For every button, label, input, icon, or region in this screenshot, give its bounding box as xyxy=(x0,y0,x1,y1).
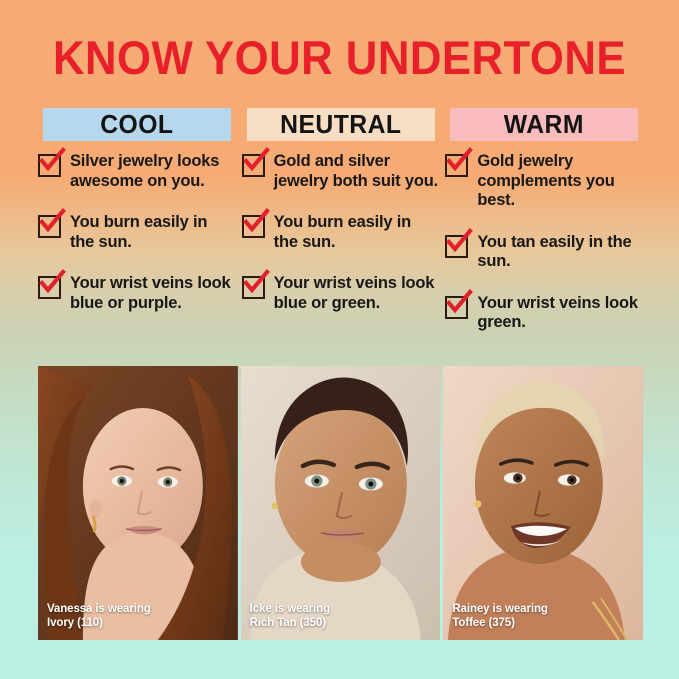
checklist-item[interactable]: Your wrist veins look blue or green. xyxy=(242,274,440,313)
checklist-column-neutral: Gold and silver jewelry both suit you. Y… xyxy=(242,152,440,333)
checklist-item-label: Silver jewelry looks awesome on you. xyxy=(70,152,236,191)
checklist-item[interactable]: You tan easily in the sun. xyxy=(445,233,643,272)
photo-caption-line2: Rich Tan (350) xyxy=(250,617,330,631)
checkbox-checked-icon[interactable] xyxy=(38,215,61,238)
model-photo-strip: Vanessa is wearing Ivory (110) xyxy=(38,366,643,640)
checklist-item-label: You burn easily in the sun. xyxy=(70,213,236,252)
model-photo-vanessa: Vanessa is wearing Ivory (110) xyxy=(38,366,238,640)
photo-caption-line2: Toffee (375) xyxy=(452,617,547,631)
photo-caption: Rainey is wearing Toffee (375) xyxy=(452,603,547,630)
checkbox-checked-icon[interactable] xyxy=(242,215,265,238)
checklist-item-label: Your wrist veins look blue or green. xyxy=(274,274,440,313)
checklist-item-label: Your wrist veins look blue or purple. xyxy=(70,274,236,313)
photo-caption-line1: Icke is wearing xyxy=(250,603,330,617)
checklist-item-label: You tan easily in the sun. xyxy=(477,233,643,272)
checklist-item-label: Gold jewelry complements you best. xyxy=(477,152,643,211)
checklist-item-label: Your wrist veins look green. xyxy=(477,294,643,333)
page-title: KNOW YOUR UNDERTONE xyxy=(24,33,655,83)
portrait-illustration-icke xyxy=(241,366,441,640)
checkbox-checked-icon[interactable] xyxy=(242,154,265,177)
checklist-item[interactable]: Gold and silver jewelry both suit you. xyxy=(242,152,440,191)
checklist-item[interactable]: Your wrist veins look green. xyxy=(445,294,643,333)
photo-caption-line1: Vanessa is wearing xyxy=(47,603,151,617)
portrait-illustration-rainey xyxy=(443,366,643,640)
checklist-item-label: Gold and silver jewelry both suit you. xyxy=(274,152,440,191)
undertone-infographic: KNOW YOUR UNDERTONE COOL NEUTRAL WARM Si… xyxy=(0,0,679,679)
model-photo-icke: Icke is wearing Rich Tan (350) xyxy=(241,366,441,640)
column-header-bands: COOL NEUTRAL WARM xyxy=(38,108,643,141)
checklist-column-warm: Gold jewelry complements you best. You t… xyxy=(445,152,643,333)
checklist-item[interactable]: You burn easily in the sun. xyxy=(242,213,440,252)
checkbox-checked-icon[interactable] xyxy=(445,154,468,177)
checkbox-checked-icon[interactable] xyxy=(38,154,61,177)
checklist-column-cool: Silver jewelry looks awesome on you. You… xyxy=(38,152,236,333)
portrait-illustration-vanessa xyxy=(38,366,238,640)
model-photo-rainey: Rainey is wearing Toffee (375) xyxy=(443,366,643,640)
photo-caption-line2: Ivory (110) xyxy=(47,617,151,631)
checklist-item[interactable]: Gold jewelry complements you best. xyxy=(445,152,643,211)
checklist-item-label: You burn easily in the sun. xyxy=(274,213,440,252)
column-header-cool: COOL xyxy=(43,108,231,141)
checklist-columns: Silver jewelry looks awesome on you. You… xyxy=(38,152,643,333)
photo-caption: Icke is wearing Rich Tan (350) xyxy=(250,603,330,630)
checkbox-checked-icon[interactable] xyxy=(445,296,468,319)
column-header-neutral: NEUTRAL xyxy=(247,108,435,141)
checklist-item[interactable]: You burn easily in the sun. xyxy=(38,213,236,252)
photo-caption-line1: Rainey is wearing xyxy=(452,603,547,617)
checklist-item[interactable]: Your wrist veins look blue or purple. xyxy=(38,274,236,313)
checkbox-checked-icon[interactable] xyxy=(38,276,61,299)
column-header-warm: WARM xyxy=(450,108,638,141)
checkbox-checked-icon[interactable] xyxy=(445,235,468,258)
checkbox-checked-icon[interactable] xyxy=(242,276,265,299)
photo-caption: Vanessa is wearing Ivory (110) xyxy=(47,603,151,630)
checklist-item[interactable]: Silver jewelry looks awesome on you. xyxy=(38,152,236,191)
